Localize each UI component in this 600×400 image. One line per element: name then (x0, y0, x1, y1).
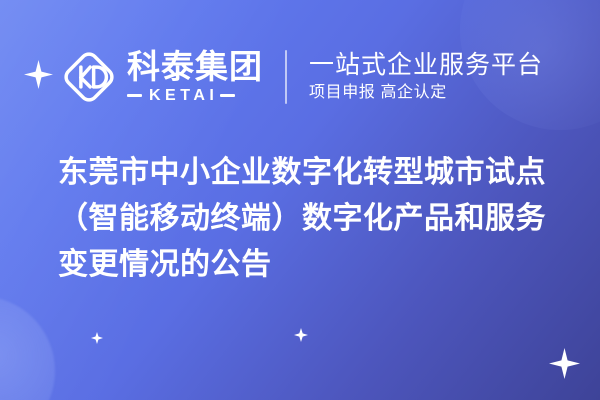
brand-name-en: KETAI (148, 88, 218, 104)
page-title: 东莞市中小企业数字化转型城市试点（智能移动终端）数字化产品和服务变更情况的公告 (58, 150, 558, 288)
brand-name-en-row: KETAI (127, 88, 263, 104)
ketai-kd-monogram-icon (60, 48, 118, 106)
sparkle-icon-small-left (91, 332, 103, 344)
brand-name-cn: 科泰集团 (127, 50, 263, 84)
tagline-main: 一站式企业服务平台 (309, 51, 543, 79)
brand-logo: 科泰集团 KETAI (60, 40, 263, 114)
sparkle-icon-large-right (549, 348, 580, 379)
sparkle-icon-logo (24, 60, 53, 89)
sparkle-icon-small-center (294, 328, 308, 342)
tagline-block: 一站式企业服务平台 项目申报 高企认定 (309, 51, 543, 102)
tagline-sub: 项目申报 高企认定 (309, 84, 543, 102)
background-circle-bottom-left (0, 296, 55, 400)
brand-rule-left-icon (127, 94, 142, 97)
brand-rule-right-icon (220, 94, 235, 97)
announcement-banner: 科泰集团 KETAI 一站式企业服务平台 项目申报 高企认定 东莞市中小企业数字… (0, 0, 600, 400)
brand-wordmark: 科泰集团 KETAI (127, 50, 263, 104)
header-divider (285, 50, 287, 104)
banner-header: 科泰集团 KETAI 一站式企业服务平台 项目申报 高企认定 (60, 40, 543, 114)
